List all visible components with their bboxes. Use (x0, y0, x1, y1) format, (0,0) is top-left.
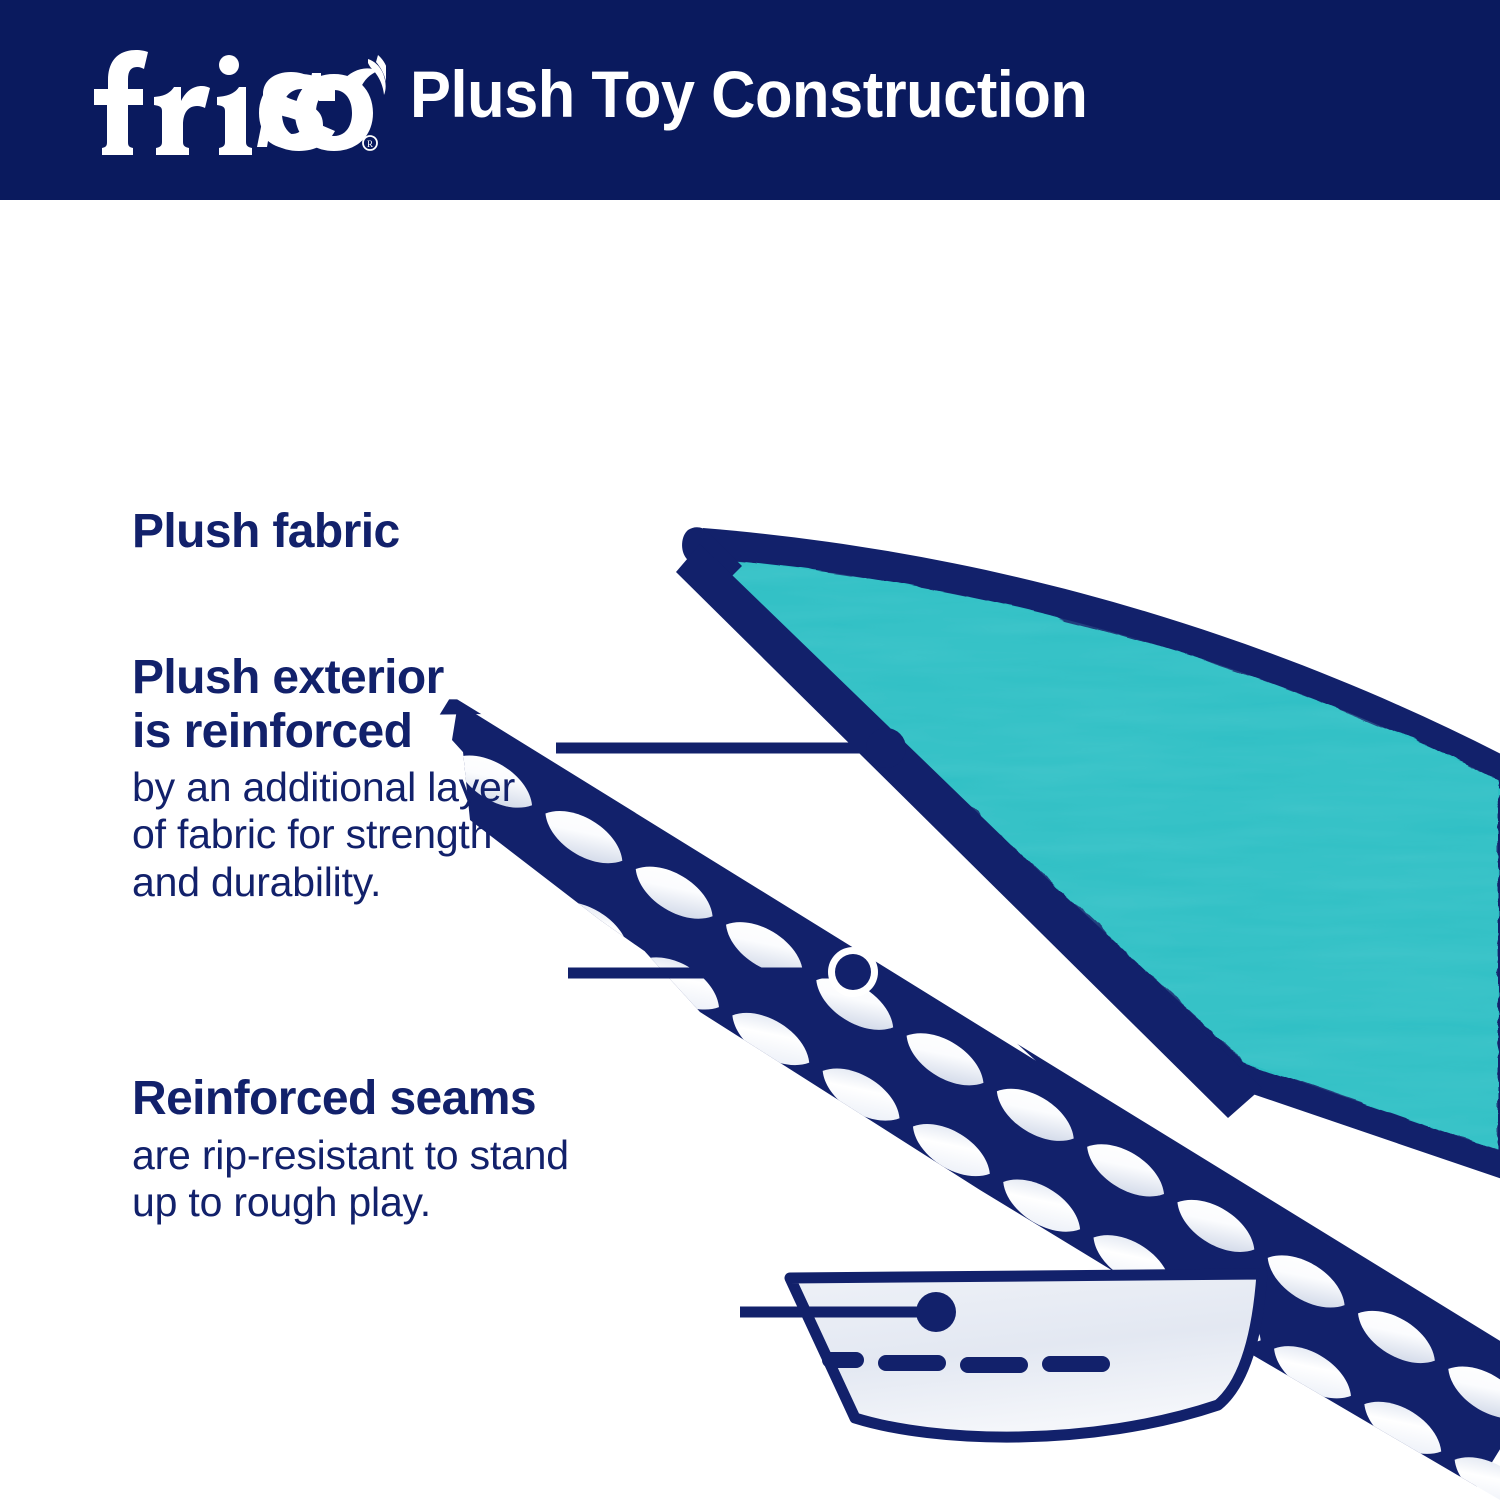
callout-plush-fabric: Plush fabric (132, 505, 400, 559)
callout-title-plush-fabric: Plush fabric (132, 505, 400, 559)
frisco-wordmark-logo: R (86, 36, 386, 156)
callout-title-reinforced-seams: Reinforced seams (132, 1072, 569, 1126)
svg-text:R: R (367, 139, 373, 149)
callout-body-line-1: by an additional layer (132, 764, 515, 811)
marker-dot-plush-exterior (835, 954, 871, 990)
callout-reinforced-seams: Reinforced seams are rip-resistant to st… (132, 1072, 569, 1226)
marker-dot-plush-fabric (866, 728, 906, 768)
callout-title-line-2: is reinforced (132, 705, 515, 759)
marker-dot-reinforced-seams (916, 1292, 956, 1332)
callout-plush-exterior-reinforced: Plush exterior is reinforced by an addit… (132, 651, 515, 906)
registered-trademark-icon: R (363, 136, 377, 150)
callout-body-plush-exterior: by an additional layer of fabric for str… (132, 764, 515, 906)
page-title: Plush Toy Construction (410, 61, 1087, 131)
callout-body-reinforced-seams: are rip-resistant to stand up to rough p… (132, 1132, 569, 1227)
frisco-logo-svg: R (86, 37, 386, 155)
seam-panel-layer (790, 1272, 1262, 1437)
callout-body-line-2: up to rough play. (132, 1179, 569, 1226)
callout-body-line-3: and durability. (132, 859, 515, 906)
header-inner: R Plush Toy Construction (0, 36, 1500, 164)
callout-title-line-1: Plush exterior (132, 651, 515, 705)
callout-body-line-2: of fabric for strength (132, 811, 515, 858)
page-header: R Plush Toy Construction (0, 0, 1500, 200)
callout-body-line-1: are rip-resistant to stand (132, 1132, 569, 1179)
